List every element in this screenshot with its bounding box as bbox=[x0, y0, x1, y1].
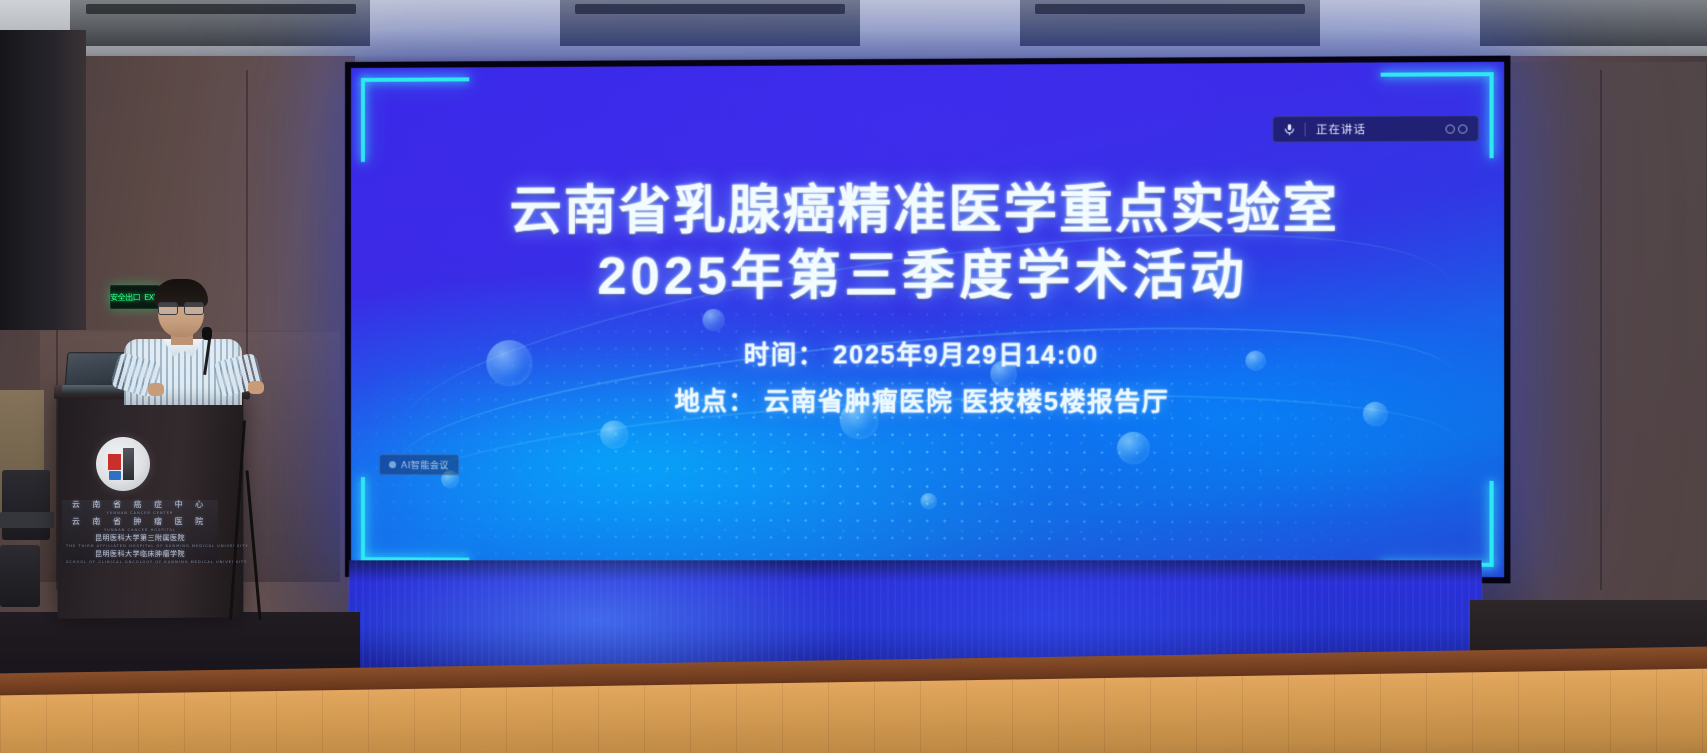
ceiling-light-slot bbox=[1035, 4, 1305, 14]
meeting-mode-label: AI智能会议 bbox=[401, 458, 449, 471]
conference-hall-photo: 安全出口 EXIT bbox=[0, 0, 1707, 753]
plaque-line-cn: 昆明医科大学第三附属医院 bbox=[66, 533, 214, 543]
ceiling-light-slot bbox=[575, 4, 845, 14]
speaking-status-label: 正在讲话 bbox=[1306, 120, 1434, 137]
slide-time-line: 时间： 2025年9月29日14:00 bbox=[351, 334, 1504, 379]
plaque-line-en: YUNNAN CANCER CENTER bbox=[66, 511, 214, 515]
plaque-line-en: YUNNAN CANCER HOSPITAL bbox=[66, 528, 214, 532]
plaque-line-en: SCHOOL OF CLINICAL ONCOLOGY OF KUNMING M… bbox=[66, 560, 214, 564]
slide-place-line: 地点： 云南省肿瘤医院 医技楼5楼报告厅 bbox=[351, 380, 1504, 426]
logo-red-block bbox=[108, 454, 121, 470]
circle-dot-icon bbox=[389, 461, 396, 468]
ceiling-light-slot bbox=[86, 4, 356, 14]
plaque-line-cn: 云 南 省 癌 症 中 心 bbox=[66, 499, 214, 510]
glasses-icon bbox=[158, 302, 204, 313]
led-display-frame: 云南省乳腺癌精准医学重点实验室 2025年第三季度学术活动 时间： 2025年9… bbox=[345, 56, 1510, 584]
slide-title-line-2: 2025年第三季度学术活动 bbox=[351, 243, 1504, 310]
presenter-right-hand bbox=[248, 381, 264, 394]
ceiling-panel bbox=[1480, 0, 1707, 46]
logo-mark bbox=[108, 448, 138, 480]
plaque-line-cn: 云 南 省 肿 瘤 医 院 bbox=[66, 516, 214, 527]
slide-text-block: 云南省乳腺癌精准医学重点实验室 2025年第三季度学术活动 时间： 2025年9… bbox=[351, 177, 1504, 427]
pill-right-icons[interactable] bbox=[1434, 124, 1478, 133]
presenter bbox=[118, 283, 248, 403]
curtain-left bbox=[0, 30, 86, 330]
podium-name-plaque: 云 南 省 癌 症 中 心 YUNNAN CANCER CENTER 云 南 省… bbox=[62, 500, 218, 562]
chair-seat bbox=[0, 512, 54, 528]
wall-right-panel bbox=[1480, 62, 1706, 622]
meeting-mode-badge[interactable]: AI智能会议 bbox=[379, 454, 459, 475]
presenter-left-hand bbox=[148, 383, 164, 396]
wall-seam bbox=[1600, 70, 1602, 590]
speaking-status-pill[interactable]: 正在讲话 bbox=[1272, 115, 1479, 142]
hospital-logo-icon bbox=[96, 437, 150, 491]
led-display-screen: 云南省乳腺癌精准医学重点实验室 2025年第三季度学术活动 时间： 2025年9… bbox=[351, 62, 1504, 577]
logo-gray-bar bbox=[123, 448, 134, 480]
logo-blue-block bbox=[109, 471, 121, 480]
slide-title-line-1: 云南省乳腺癌精准医学重点实验室 bbox=[351, 177, 1504, 245]
microphone-head bbox=[202, 327, 212, 340]
chair bbox=[0, 545, 40, 607]
chair bbox=[2, 470, 50, 540]
plaque-line-cn: 昆明医科大学临床肿瘤学院 bbox=[66, 549, 214, 559]
plaque-line-en: THE THIRD AFFILIATED HOSPITAL OF KUNMING… bbox=[66, 544, 214, 548]
microphone-icon bbox=[1273, 123, 1304, 136]
